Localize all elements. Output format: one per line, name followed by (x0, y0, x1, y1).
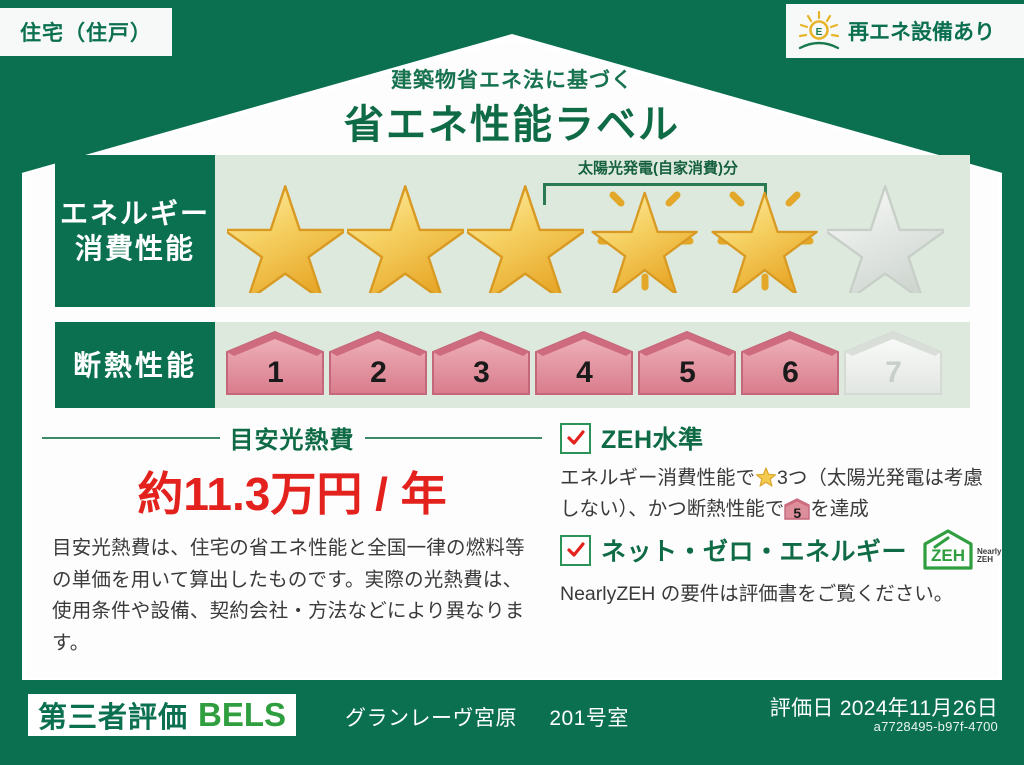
label-subtitle: 建築物省エネ法に基づく (0, 64, 1024, 94)
net-zero-energy-block: ネット・ゼロ・エネルギー ZEH Nearly ZEH NearlyZEH の要… (560, 528, 1020, 610)
insulation-performance-row: 断熱性能 1 (55, 322, 970, 408)
star-3 (467, 169, 584, 293)
insulation-level-1: 1 (225, 330, 326, 398)
bels-badge: 第三者評価 BELS (28, 694, 296, 736)
zeh-logo-sub2: ZEH (977, 555, 993, 564)
evaluation-date: 評価日 2024年11月26日 (770, 692, 998, 722)
star-5-solar (707, 169, 824, 293)
building-name: グランレーヴ宮原 (345, 707, 517, 730)
cost-rule-left (42, 437, 220, 439)
insulation-level-6: 6 (740, 330, 841, 398)
star-6-empty (827, 169, 944, 293)
insulation-level-3-number: 3 (431, 356, 532, 390)
solar-sun-icon: E (796, 10, 842, 52)
net-zero-description: NearlyZEH の要件は評価書をご覧ください。 (560, 579, 1020, 610)
inline-house-level: 5 (784, 502, 810, 524)
zeh-standard-text-a: エネルギー消費性能で (560, 467, 755, 489)
room-number: 201号室 (549, 707, 629, 730)
zeh-standard-block: ZEH水準 エネルギー消費性能で3つ（太陽光発電は考慮しない）、かつ断熱性能で5… (560, 420, 985, 525)
zeh-standard-description: エネルギー消費性能で3つ（太陽光発電は考慮しない）、かつ断熱性能で5を達成 (560, 463, 985, 525)
check-icon-net-zero (560, 535, 591, 566)
cost-heading-text: 目安光熱費 (230, 420, 355, 455)
insulation-level-1-number: 1 (225, 356, 326, 390)
insulation-performance-label: 断熱性能 (55, 322, 215, 408)
insulation-level-7-number: 7 (843, 356, 944, 390)
insulation-level-5: 5 (637, 330, 738, 398)
insulation-level-2-number: 2 (328, 356, 429, 390)
renewable-label: 再エネ設備あり (848, 16, 995, 46)
insulation-level-6-number: 6 (740, 356, 841, 390)
insulation-level-5-number: 5 (637, 356, 738, 390)
insulation-level-3: 3 (431, 330, 532, 398)
zeh-standard-title: ZEH水準 (601, 420, 704, 456)
inline-house-icon: 5 (784, 498, 810, 520)
zeh-standard-heading: ZEH水準 (560, 420, 985, 456)
svg-text:E: E (816, 27, 823, 38)
estimated-cost-note: 目安光熱費は、住宅の省エネ性能と全国一律の燃料等の単価を用いて算出したものです。… (52, 533, 534, 659)
star-2 (347, 169, 464, 293)
label-title: 省エネ性能ラベル (0, 92, 1024, 150)
estimated-cost-heading: 目安光熱費 (42, 420, 542, 455)
housing-type-tag: 住宅（住戸） (0, 8, 172, 56)
renewable-energy-tag: E 再エネ設備あり (786, 4, 1024, 58)
zeh-logo-subtext: Nearly ZEH (977, 528, 1001, 565)
net-zero-heading: ネット・ゼロ・エネルギー ZEH Nearly ZEH (560, 528, 1020, 572)
insulation-level-2: 2 (328, 330, 429, 398)
star-4-solar (587, 169, 704, 293)
housing-type-label: 住宅（住戸） (20, 17, 152, 47)
check-icon-zeh-standard (560, 423, 591, 454)
insulation-level-scale: 1 2 3 (225, 330, 944, 398)
insulation-rating-area: 1 2 3 (215, 322, 970, 408)
energy-rating-area: 太陽光発電(自家消費)分 (215, 155, 970, 307)
star-1 (227, 169, 344, 293)
energy-label-line2: 消費性能 (75, 231, 195, 266)
building-info: グランレーヴ宮原 201号室 (345, 702, 629, 732)
insulation-level-4-number: 4 (534, 356, 635, 390)
energy-performance-label: エネルギー 消費性能 (55, 155, 215, 307)
evaluation-id: a7728495-b97f-4700 (874, 719, 998, 734)
star-rating (227, 169, 944, 293)
insulation-level-7-empty: 7 (843, 330, 944, 398)
inline-star-icon (755, 466, 777, 488)
energy-performance-row: エネルギー 消費性能 太陽光発電(自家消費)分 (55, 155, 970, 307)
zeh-standard-text-c: を達成 (810, 498, 869, 520)
svg-text:ZEH: ZEH (931, 546, 965, 565)
estimated-cost-value: 約11.3万円 / 年 (42, 458, 542, 524)
energy-label-card: 住宅（住戸） E 再エネ設備あり 建築物省エネ法に基づく 省 (0, 0, 1024, 765)
energy-label-line1: エネルギー (60, 196, 210, 231)
bels-en-label: BELS (198, 696, 286, 734)
insulation-label-text: 断熱性能 (73, 348, 197, 383)
net-zero-title: ネット・ゼロ・エネルギー (601, 532, 907, 568)
insulation-level-4: 4 (534, 330, 635, 398)
bels-jp-label: 第三者評価 (38, 694, 188, 736)
cost-rule-right (365, 437, 543, 439)
zeh-logo: ZEH Nearly ZEH (921, 528, 1001, 572)
